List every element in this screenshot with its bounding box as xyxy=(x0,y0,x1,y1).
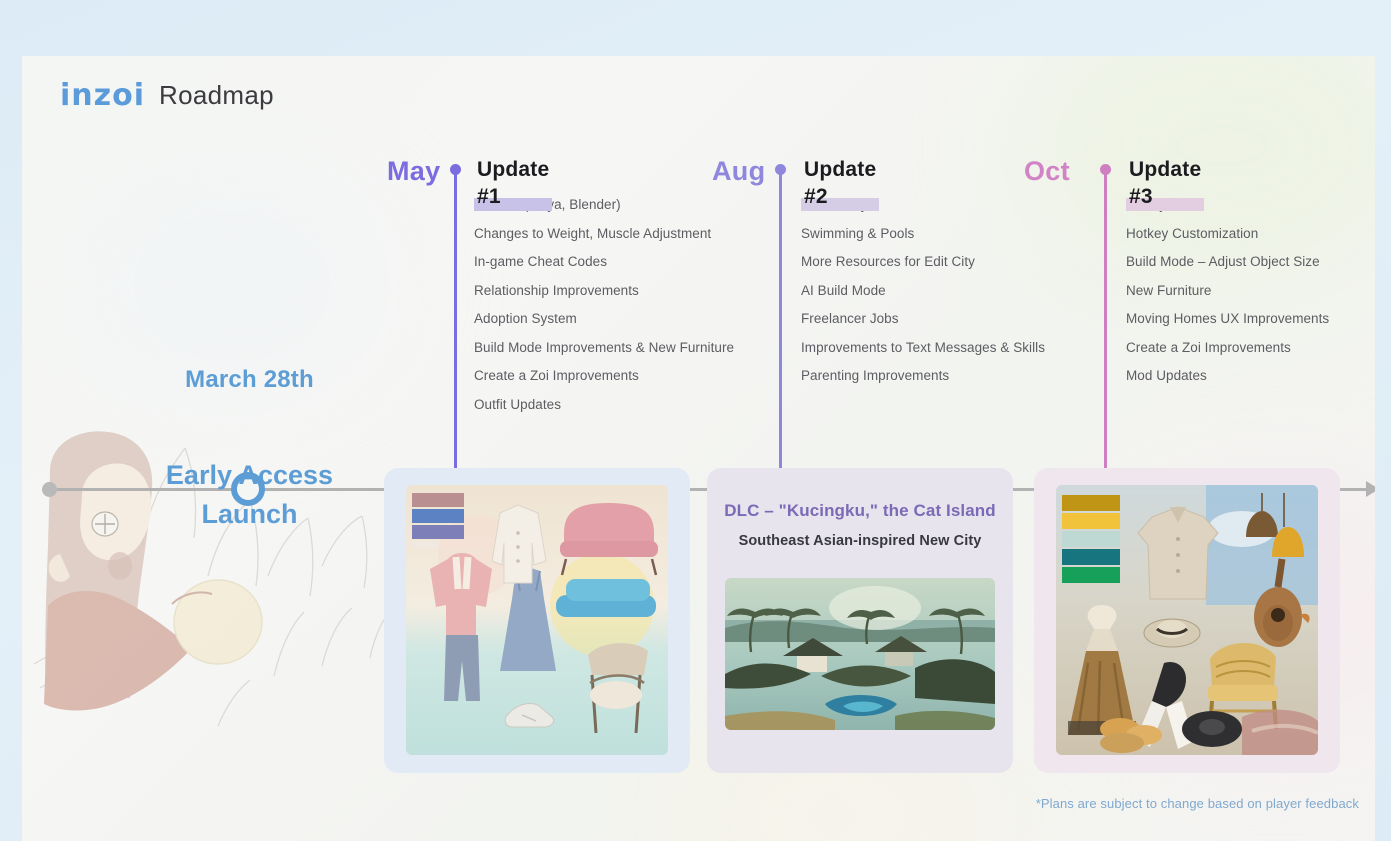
feature-item: Changes to Weight, Muscle Adjustment xyxy=(474,227,794,241)
poster-panel: inzoi Roadmap March 28th Early Access La… xyxy=(22,56,1375,841)
feature-item: In-game Cheat Codes xyxy=(474,255,794,269)
milestone-top-dot xyxy=(1100,164,1111,175)
early-access-date: March 28th xyxy=(152,366,347,394)
disclaimer-note: *Plans are subject to change based on pl… xyxy=(1036,796,1359,811)
milestone-feature-list: Mod Kit (Maya, Blender)Changes to Weight… xyxy=(474,198,794,426)
timeline-arrow-icon xyxy=(1366,481,1375,497)
dlc-subtitle: Southeast Asian-inspired New City xyxy=(707,533,1013,549)
feature-item: AI Build Mode xyxy=(801,284,1121,298)
feature-item: Create a Zoi Improvements xyxy=(1126,341,1375,355)
early-access-label: Early Access Launch xyxy=(142,456,357,534)
feature-item: Create a Zoi Improvements xyxy=(474,369,794,383)
milestone-connector-line xyxy=(779,168,782,486)
milestone-title: Update #1 xyxy=(474,156,552,212)
early-access-label-line1: Early Access xyxy=(166,460,333,490)
timeline-start-dot xyxy=(42,482,57,497)
page-title: Roadmap xyxy=(159,80,274,111)
milestone-month-label: May xyxy=(387,156,440,187)
feature-item: Hotkey Customization xyxy=(1126,227,1375,241)
feature-item: Mod Updates xyxy=(1126,369,1375,383)
feature-item: Moving Homes UX Improvements xyxy=(1126,312,1375,326)
card-update-1[interactable] xyxy=(384,468,690,773)
feature-item: Parenting Improvements xyxy=(801,369,1121,383)
milestone-top-dot xyxy=(450,164,461,175)
background-bloom-blue xyxy=(82,176,382,396)
moodboard-image-pastel xyxy=(406,485,668,755)
milestone-top-dot xyxy=(775,164,786,175)
milestone-connector-line xyxy=(1104,168,1107,486)
early-access-label-line2: Launch xyxy=(201,499,297,529)
feature-item: Improvements to Text Messages & Skills xyxy=(801,341,1121,355)
feature-item: Build Mode – Adjust Object Size xyxy=(1126,255,1375,269)
feature-item: Outfit Updates xyxy=(474,398,794,412)
card-update-3[interactable] xyxy=(1034,468,1340,773)
moodboard-image-tropical xyxy=(1056,485,1318,755)
feature-item: Build Mode Improvements & New Furniture xyxy=(474,341,794,355)
milestone-month-label: Oct xyxy=(1024,156,1070,187)
milestone-title: Update #2 xyxy=(801,156,879,212)
dlc-island-image xyxy=(725,578,995,730)
feature-item: New Furniture xyxy=(1126,284,1375,298)
milestone-title: Update #3 xyxy=(1126,156,1204,212)
card-dlc[interactable]: DLC – "Kucingku," the Cat Island Southea… xyxy=(707,468,1013,773)
header: inzoi Roadmap xyxy=(60,78,274,113)
feature-item: Swimming & Pools xyxy=(801,227,1121,241)
feature-item: More Resources for Edit City xyxy=(801,255,1121,269)
inzoi-logo: inzoi xyxy=(60,78,145,113)
poster-frame: inzoi Roadmap March 28th Early Access La… xyxy=(0,0,1391,841)
milestone-connector-line xyxy=(454,168,457,486)
milestone-month-label: Aug xyxy=(712,156,765,187)
feature-item: Adoption System xyxy=(474,312,794,326)
dlc-title: DLC – "Kucingku," the Cat Island xyxy=(707,501,1013,521)
feature-item: Relationship Improvements xyxy=(474,284,794,298)
milestone-feature-list: Family TreeHotkey CustomizationBuild Mod… xyxy=(1126,198,1375,398)
milestone-feature-list: Ghost PlaySwimming & PoolsMore Resources… xyxy=(801,198,1121,398)
feature-item: Freelancer Jobs xyxy=(801,312,1121,326)
